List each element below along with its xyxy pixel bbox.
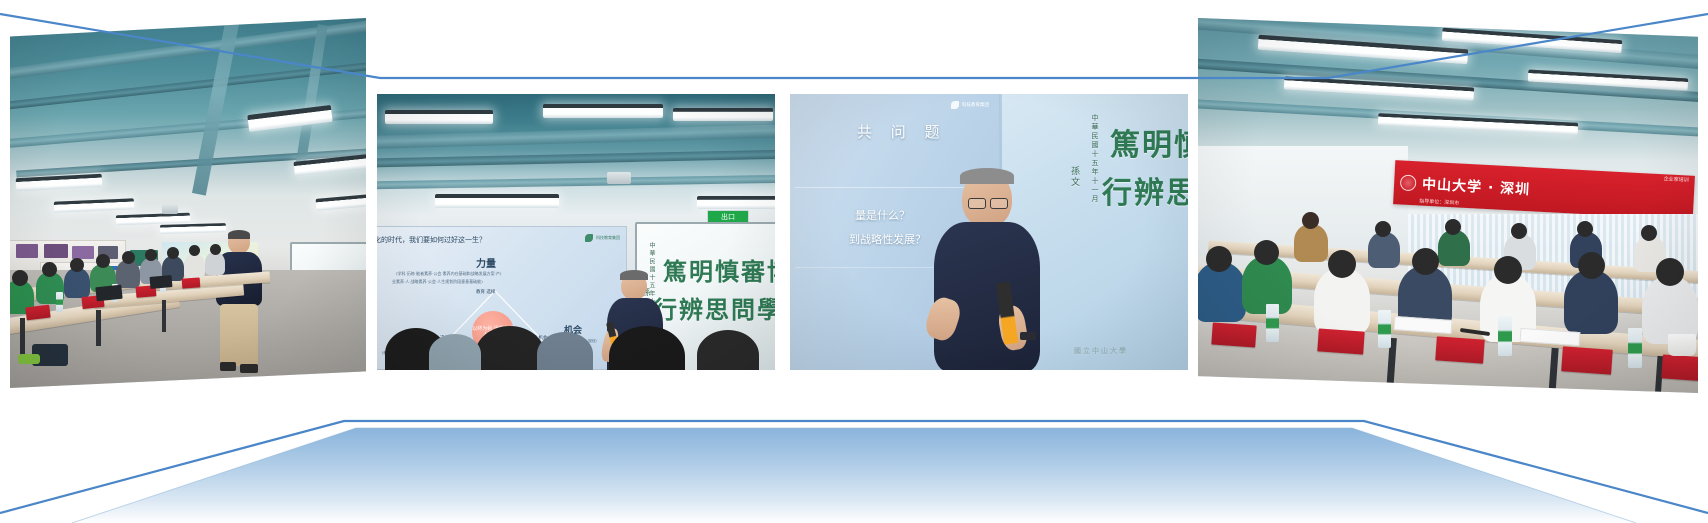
gallery-stage: 出口 化的时代，我们要如何过好这一生？ 科技教育集团 力量 (学科·历练·能者素… — [0, 0, 1708, 523]
nameplate — [1317, 328, 1364, 354]
university-seal-icon — [1400, 174, 1417, 191]
frame-bottom-chevron — [0, 395, 1708, 523]
slide-logo: 科技教育集团 — [585, 234, 620, 242]
nameplate — [1561, 346, 1613, 374]
nameplate — [1435, 336, 1485, 363]
slide-logo: 科技教育集团 — [951, 101, 989, 109]
photo3-speaker — [926, 170, 1050, 370]
nameplate — [1211, 322, 1256, 347]
gallery-photo-center-left[interactable]: 出口 化的时代，我们要如何过好这一生？ 科技教育集团 力量 (学科·历练·能者素… — [377, 94, 775, 370]
gallery-photo-right[interactable]: 中山大学 · 深圳 企业家培训 指导单位：深圳市 — [1198, 18, 1698, 393]
floor-reflection — [0, 418, 1708, 523]
gallery-photo-center-right[interactable]: 科技教育集团 共 问 题 量是什么？ 到战略性发展？ 中華民國十五年十一月 篤明… — [790, 94, 1188, 370]
gallery-photo-left[interactable] — [10, 18, 366, 388]
